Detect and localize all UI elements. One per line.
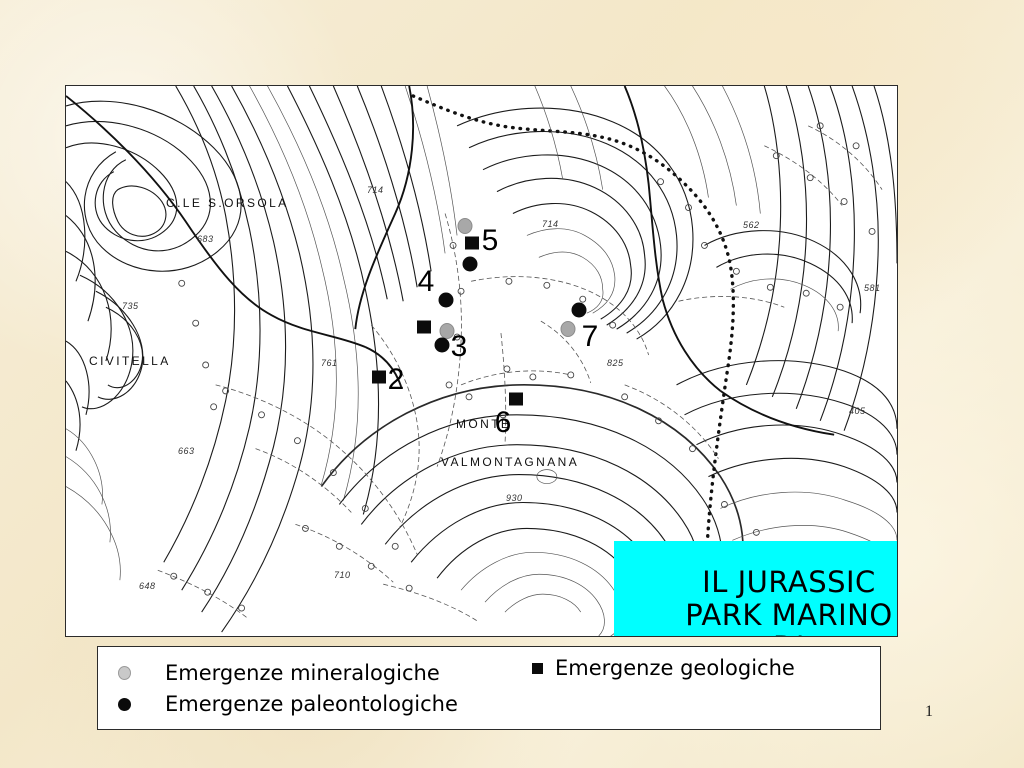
map-label-cle-s-orsola: C.LE S.ORSOLA [166,196,289,210]
elevation-label: 562 [743,220,760,230]
marker-circle-paleontological[interactable] [572,303,587,318]
marker-number-4: 4 [418,267,435,297]
marker-number-3: 3 [451,332,468,362]
marker-square-geological[interactable] [372,371,386,384]
map-label-civitella: CIVITELLA [89,354,171,368]
marker-circle-mineralogical[interactable] [561,321,576,337]
marker-circle-paleontological[interactable] [435,338,450,353]
elevation-label: 714 [542,219,559,229]
page-number: 1 [925,703,933,721]
legend-label-paleontologiche: Emergenze paleontologiche [165,692,458,716]
title-line-2: PARK MARINO [685,599,892,631]
elevation-label: 930 [506,493,523,503]
map-label-valmontagnana: VALMONTAGNANA [441,455,579,469]
marker-number-2: 2 [388,365,405,395]
geological-symbol-icon [532,663,543,674]
marker-number-7: 7 [582,322,599,352]
marker-number-1: 1 [256,636,273,637]
paleontological-symbol-icon [118,698,131,711]
elevation-label: 761 [321,358,338,368]
title-line-1: IL JURASSIC [702,566,876,598]
mineralogical-symbol-icon [118,666,131,680]
marker-circle-paleontological[interactable] [439,293,454,308]
marker-circle-paleontological[interactable] [463,257,478,272]
elevation-label: 648 [139,581,156,591]
elevation-label: 683 [197,234,214,244]
title-line-3: DI [773,631,805,637]
elevation-label: 663 [178,446,195,456]
legend-item-paleontologiche: Emergenze paleontologiche [118,692,458,716]
elevation-label: 714 [367,185,384,195]
marker-square-geological[interactable] [417,321,431,334]
elevation-label: 825 [607,358,624,368]
marker-circle-mineralogical[interactable] [458,218,473,234]
legend-item-mineralogiche: Emergenze mineralogiche [118,661,440,685]
legend-box: Emergenze mineralogiche Emergenze paleon… [97,646,881,730]
marker-number-6: 6 [495,408,512,438]
marker-square-geological[interactable] [465,237,479,250]
elevation-label: 405 [849,406,866,416]
legend-label-mineralogiche: Emergenze mineralogiche [165,661,440,685]
elevation-label: 581 [864,283,881,293]
legend-item-geologiche: Emergenze geologiche [532,656,795,680]
topographic-map: .c { fill:none; stroke:#1b1b1b; stroke-w… [65,85,898,637]
marker-number-5: 5 [482,226,499,256]
title-box: IL JURASSIC PARK MARINO DI VALMONTAGNANA [614,541,898,637]
marker-square-geological[interactable] [509,393,523,406]
elevation-label: 710 [334,570,351,580]
elevation-label: 735 [122,301,139,311]
legend-label-geologiche: Emergenze geologiche [555,656,795,680]
